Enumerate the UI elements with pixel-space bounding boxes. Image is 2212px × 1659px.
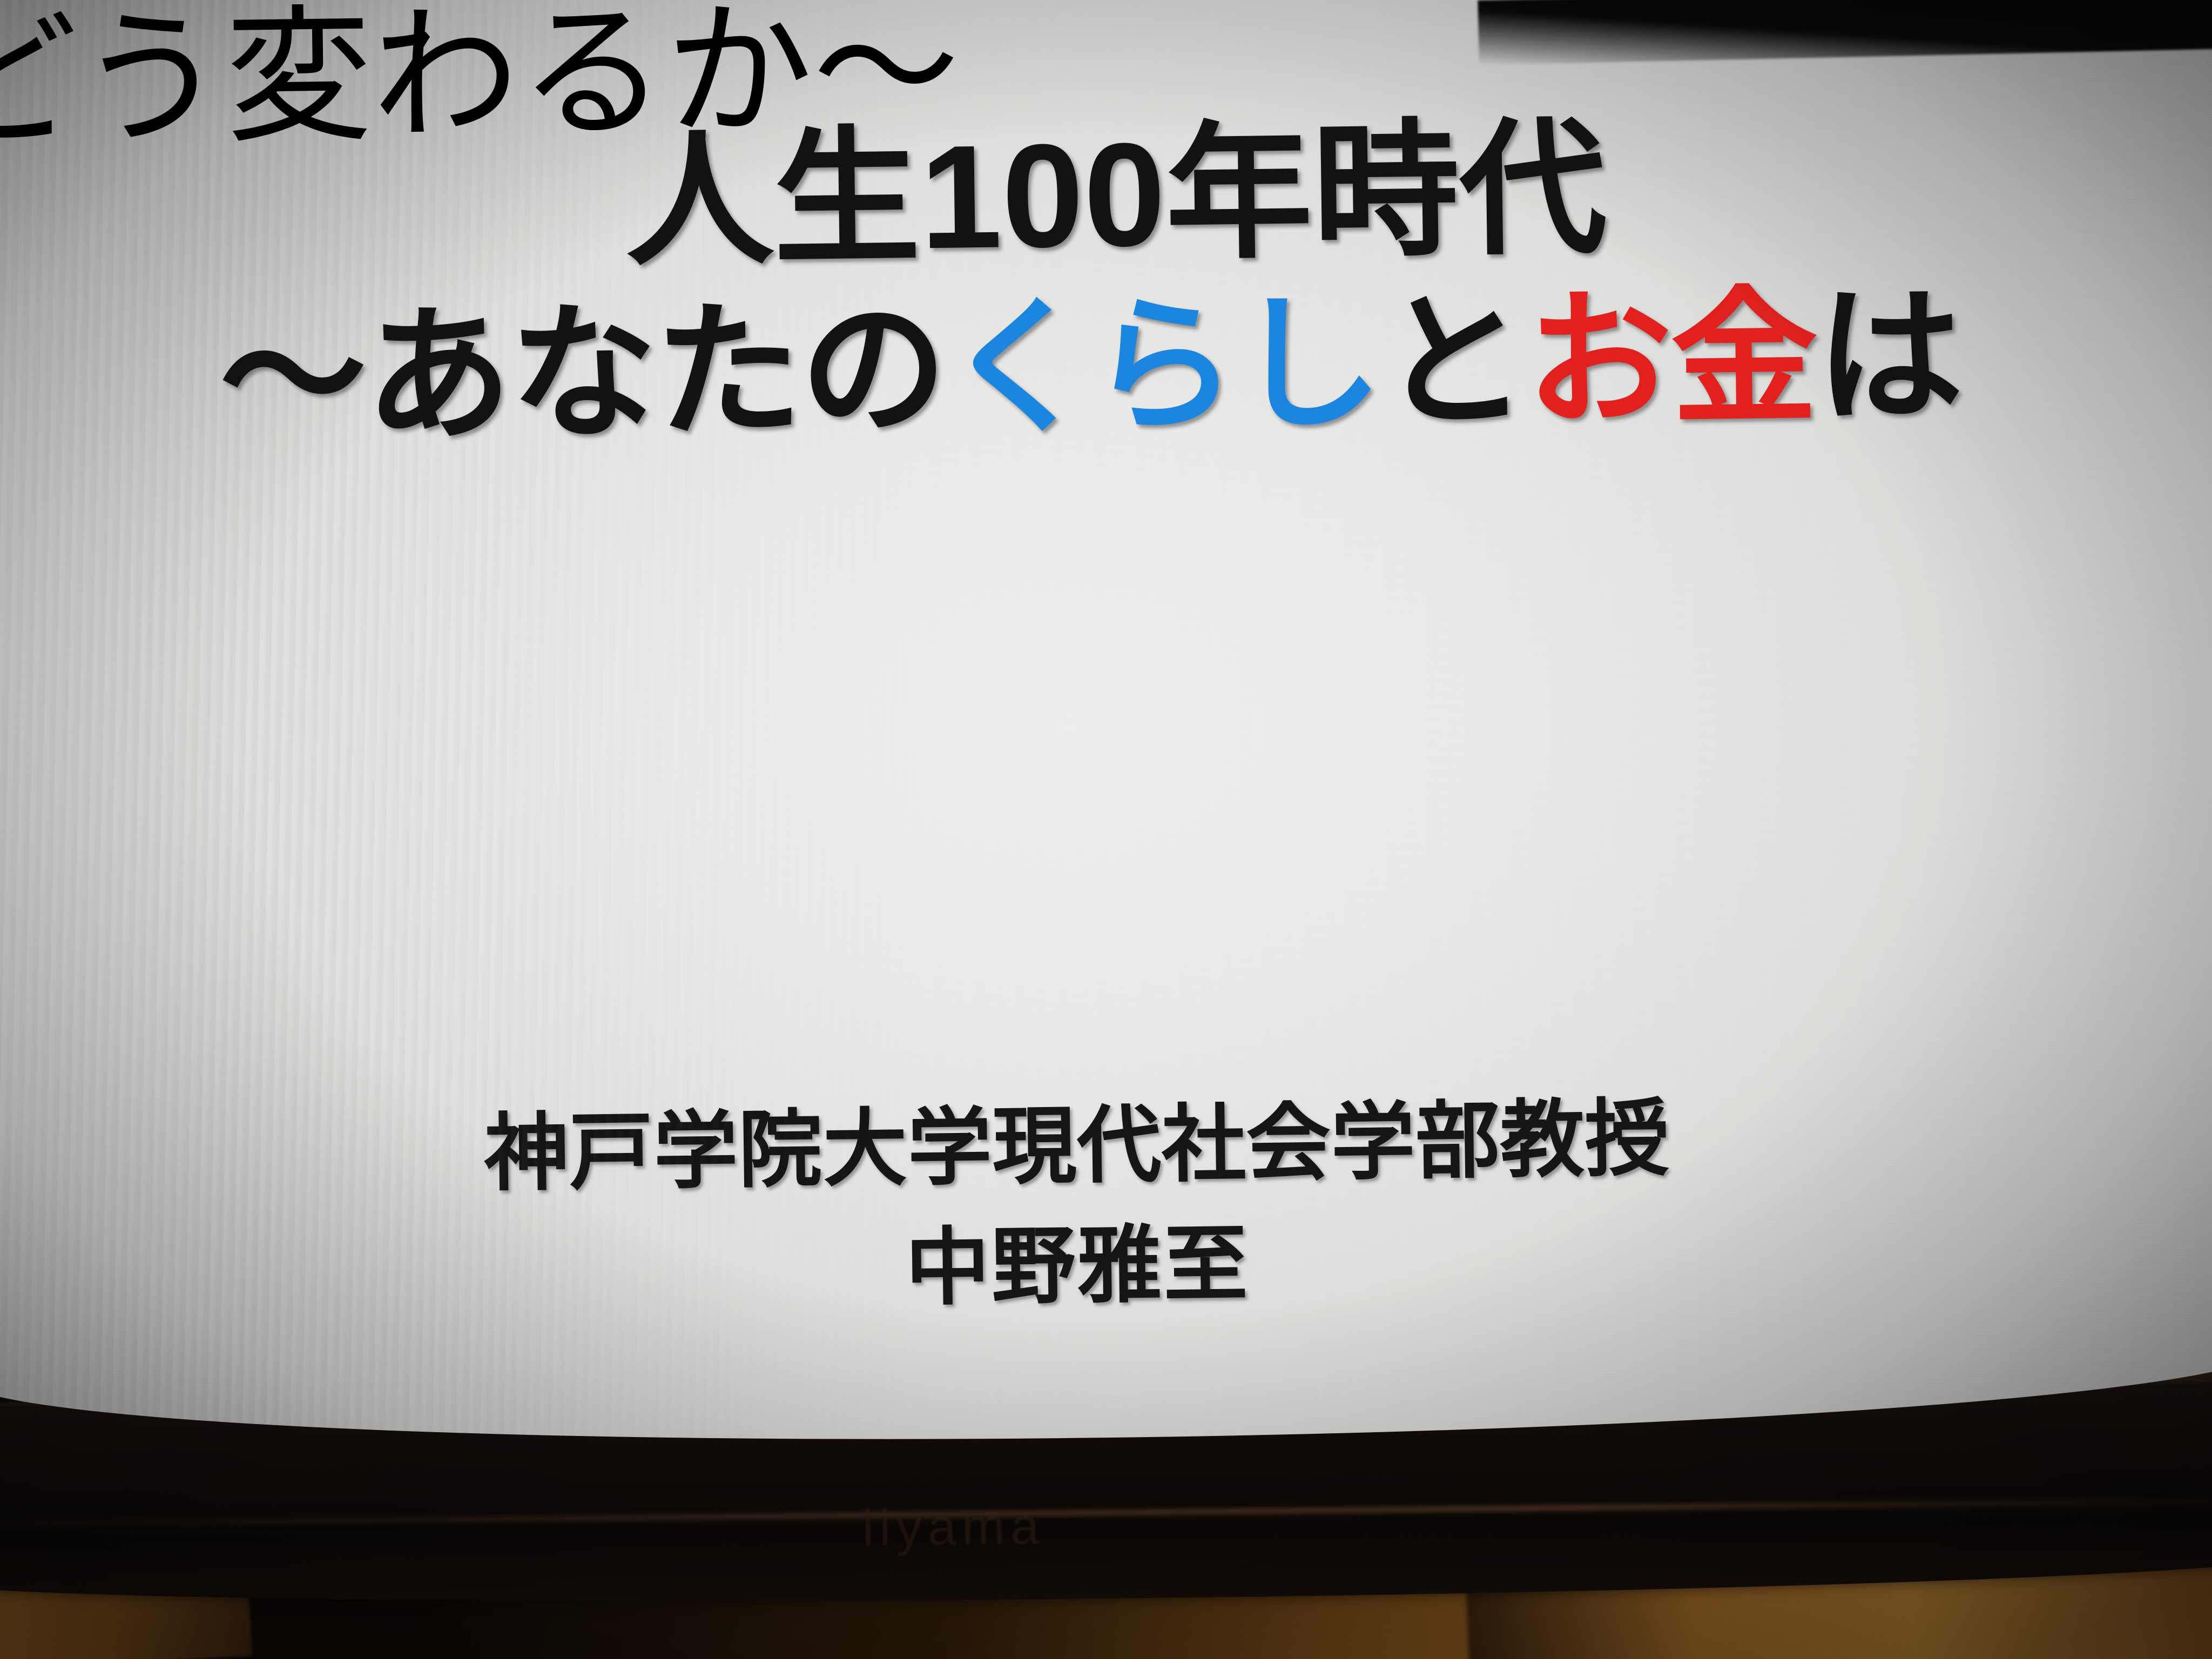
- screenshot-root: iiyama 人生100年時代 〜あなたのくらしとお金は どう変わるか〜 神戸学…: [0, 0, 2212, 1659]
- title-segment-prefix: 〜あなたの: [219, 287, 947, 461]
- title-segment-kurashi: くらし: [944, 281, 1381, 451]
- title-segment-okane: お金: [1525, 275, 1817, 443]
- slide-title: 人生100年時代 〜あなたのくらしとお金は: [0, 94, 2212, 468]
- title-line-2: 〜あなたのくらしとお金は: [0, 266, 2212, 468]
- presentation-screen: 人生100年時代 〜あなたのくらしとお金は どう変わるか〜 神戸学院大学現代社会…: [0, 0, 2212, 1453]
- monitor-brand-logo: iiyama: [862, 1495, 1230, 1580]
- title-line-1: 人生100年時代: [0, 94, 2212, 295]
- slide-content: 人生100年時代 〜あなたのくらしとお金は どう変わるか〜: [0, 0, 2212, 1453]
- title-segment-to: と: [1380, 279, 1527, 445]
- title-segment-wa: は: [1815, 273, 1963, 439]
